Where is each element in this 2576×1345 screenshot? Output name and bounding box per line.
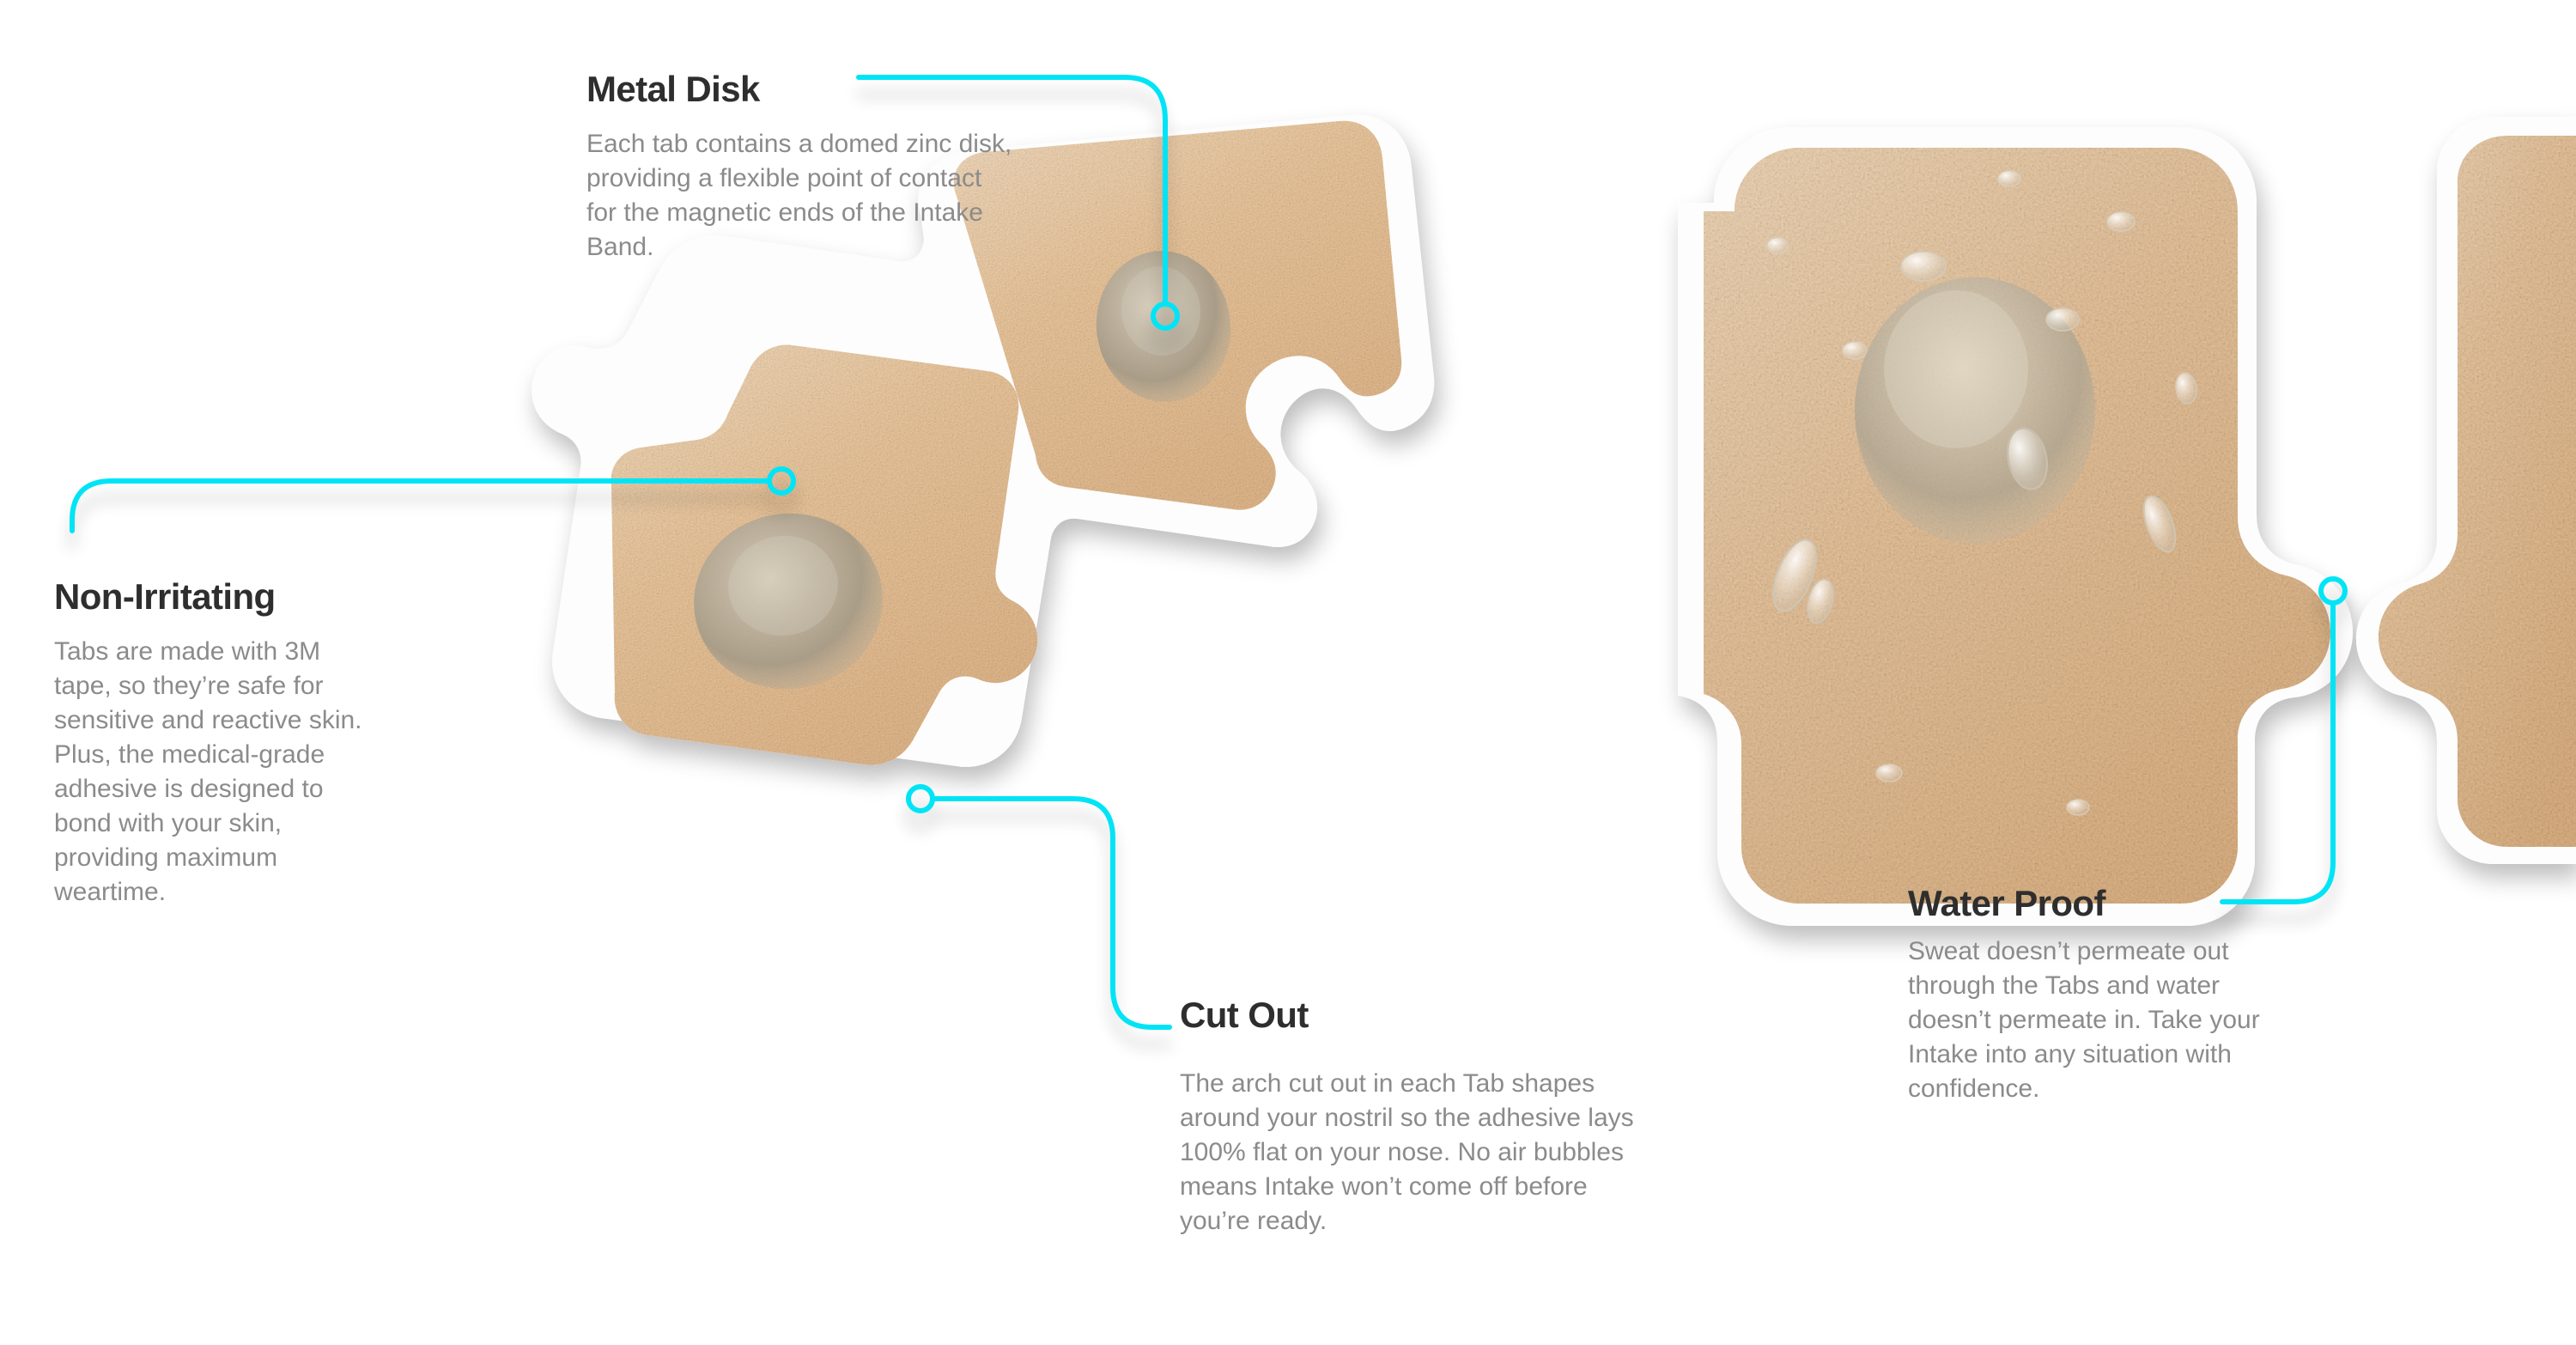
marker-non-irritating: [769, 469, 793, 493]
callout-title: Non-Irritating: [54, 578, 380, 616]
callout-title: Water Proof: [1908, 885, 2312, 922]
callout-water-proof: Water Proof Sweat doesn’t permeate out t…: [1908, 885, 2312, 1106]
callout-metal-disk: Metal Disk Each tab contains a domed zin…: [586, 70, 1033, 265]
callout-non-irritating: Non-Irritating Tabs are made with 3M tap…: [54, 578, 380, 910]
zinc-disk-lower: [683, 502, 894, 702]
zinc-disk-wet: [1855, 277, 2095, 544]
marker-water-proof: [2321, 579, 2345, 603]
leader-cut-out: [908, 787, 1170, 1027]
callout-title: Metal Disk: [586, 70, 1033, 108]
callout-body: Sweat doesn’t permeate out through the T…: [1908, 934, 2303, 1106]
marker-metal-disk: [1153, 304, 1177, 328]
callout-body: The arch cut out in each Tab shapes arou…: [1180, 1067, 1652, 1238]
callout-body: Tabs are made with 3M tape, so they’re s…: [54, 635, 372, 910]
tab-fabric-wet: [1704, 148, 2330, 904]
marker-cut-out: [908, 787, 933, 811]
leader-water-proof: [2222, 579, 2345, 902]
tab-fabric-lower: [611, 345, 1038, 765]
product-annotation-diagram: Metal Disk Each tab contains a domed zin…: [0, 0, 2576, 1345]
zinc-disk-upper: [1088, 243, 1239, 410]
water-droplets: [1765, 171, 2198, 815]
callout-title: Cut Out: [1180, 996, 1661, 1034]
callout-body: Each tab contains a domed zinc disk, pro…: [586, 127, 1016, 265]
leader-non-irritating: [72, 469, 793, 531]
callout-cut-out: Cut Out The arch cut out in each Tab sha…: [1180, 996, 1661, 1238]
tab-fabric-partial-right: [2379, 136, 2576, 847]
right-tab-photo: [1678, 117, 2576, 926]
